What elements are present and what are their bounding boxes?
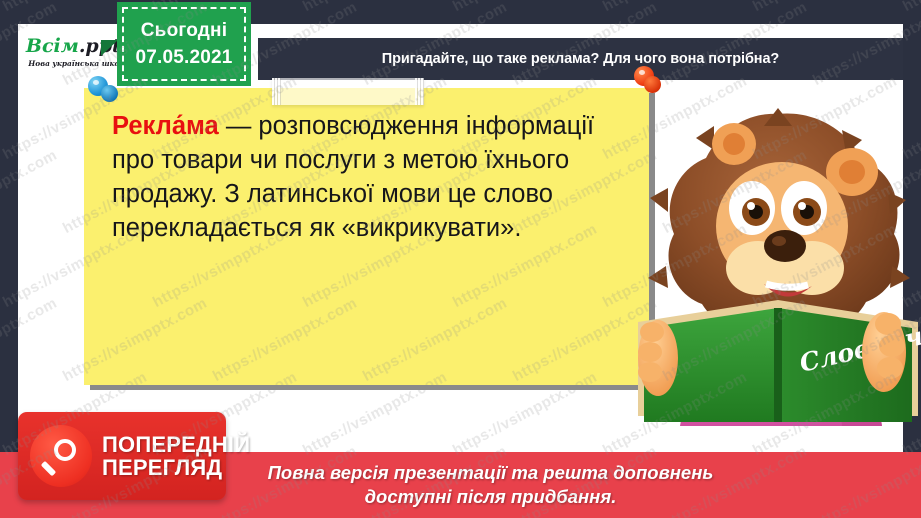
eye-highlight-right bbox=[798, 202, 806, 210]
magnifier-icon bbox=[30, 425, 92, 487]
date-badge-fold bbox=[101, 40, 118, 56]
preview-button-label: ПОПЕРЕДНІЙ ПЕРЕГЛЯД bbox=[102, 433, 250, 480]
lion-ear-right-inner bbox=[839, 160, 865, 184]
date-badge-value: 07.05.2021 bbox=[135, 47, 232, 69]
pushpin-red-icon bbox=[632, 66, 666, 98]
header-question-bar: Пригадайте, що таке реклама? Для чого во… bbox=[258, 38, 903, 80]
date-badge-label: Сьогодні bbox=[141, 20, 227, 42]
footer-line-1: Повна версія презентації та решта доповн… bbox=[268, 461, 714, 485]
lion-illustration: Словничок bbox=[636, 96, 921, 426]
eye-highlight-left bbox=[747, 202, 755, 210]
presentation-slide: Рекла́ма — розповсюдження інформації про… bbox=[0, 0, 921, 518]
watermark-text: https://vsimpptx.com bbox=[300, 0, 450, 15]
logo-tagline: Нова українська школа bbox=[28, 59, 129, 68]
preview-button-line-2: ПЕРЕГЛЯД bbox=[102, 456, 250, 479]
watermark-text: https://vsimpptx.com bbox=[750, 0, 900, 15]
date-badge: Сьогодні 07.05.2021 bbox=[117, 2, 251, 86]
lion-mascot: Словничок bbox=[636, 96, 921, 426]
preview-button[interactable]: ПОПЕРЕДНІЙ ПЕРЕГЛЯД bbox=[18, 412, 226, 500]
definition-text: Рекла́ма — розповсюдження інформації про… bbox=[112, 110, 629, 246]
definition-note-panel: Рекла́ма — розповсюдження інформації про… bbox=[84, 88, 649, 385]
definition-keyword: Рекла́ма bbox=[112, 112, 219, 140]
tape-strip bbox=[272, 78, 424, 105]
lion-paw-left bbox=[638, 320, 678, 396]
footer-line-2: доступні після придбання. bbox=[268, 485, 714, 509]
watermark-text: https://vsimpptx.com bbox=[600, 0, 750, 15]
lion-ear-left-inner bbox=[723, 133, 745, 155]
watermark-text: https://vsimpptx.com bbox=[900, 0, 921, 15]
lion-teeth bbox=[766, 284, 808, 287]
pushpin-blue-icon bbox=[88, 74, 122, 106]
lion-nose bbox=[764, 230, 806, 262]
book-spine bbox=[774, 308, 782, 422]
header-question-text: Пригадайте, що таке реклама? Для чого во… bbox=[382, 51, 779, 67]
watermark-text: https://vsimpptx.com bbox=[450, 0, 600, 15]
nose-highlight bbox=[772, 236, 786, 246]
logo-brand-primary: Всім bbox=[26, 35, 79, 57]
preview-button-line-1: ПОПЕРЕДНІЙ bbox=[102, 433, 250, 456]
lion-paw-right bbox=[862, 312, 906, 392]
